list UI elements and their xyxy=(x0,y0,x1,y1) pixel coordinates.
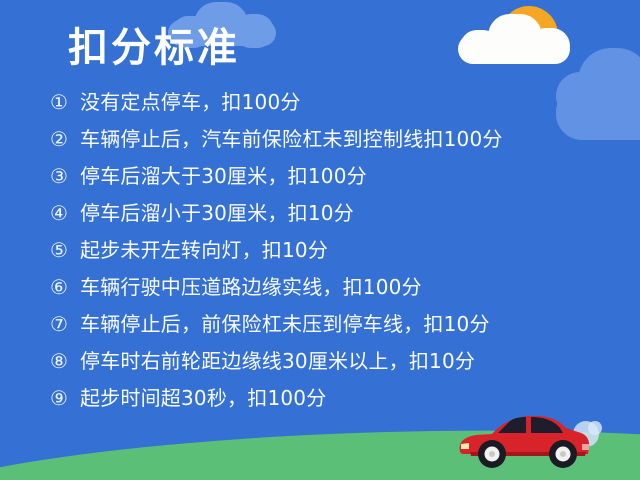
cloud-white-icon xyxy=(458,14,570,64)
list-item-number: ② xyxy=(50,127,80,151)
list-item-number: ⑧ xyxy=(50,349,80,373)
list-item-label: 起步时间超30秒，扣100分 xyxy=(80,382,326,411)
list-item-label: 车辆行驶中压道路边缘实线，扣100分 xyxy=(80,271,422,300)
page-title: 扣分标准 xyxy=(68,28,240,68)
list-item-number: ⑨ xyxy=(50,386,80,410)
rules-list: ① 没有定点停车，扣100分 ② 车辆停止后，汽车前保险杠未到控制线扣100分 … xyxy=(50,86,610,419)
list-item-number: ⑦ xyxy=(50,312,80,336)
list-item-number: ③ xyxy=(50,164,80,188)
list-item-label: 停车时右前轮距边缘线30厘米以上，扣10分 xyxy=(80,345,475,374)
list-item-label: 停车后溜大于30厘米，扣100分 xyxy=(80,160,367,189)
list-item-label: 停车后溜小于30厘米，扣10分 xyxy=(80,197,354,226)
list-item-label: 车辆停止后，汽车前保险杠未到控制线扣100分 xyxy=(80,123,503,152)
poster-canvas: 扣分标准 ① 没有定点停车，扣100分 ② 车辆停止后，汽车前保险杠未到控制线扣… xyxy=(0,0,640,480)
list-item: ⑨ 起步时间超30秒，扣100分 xyxy=(50,382,610,419)
list-item: ⑤ 起步未开左转向灯，扣10分 xyxy=(50,234,610,271)
list-item: ④ 停车后溜小于30厘米，扣10分 xyxy=(50,197,610,234)
list-item-label: 车辆停止后，前保险杠未压到停车线，扣10分 xyxy=(80,308,490,337)
list-item: ③ 停车后溜大于30厘米，扣100分 xyxy=(50,160,610,197)
list-item: ⑥ 车辆行驶中压道路边缘实线，扣100分 xyxy=(50,271,610,308)
list-item-label: 起步未开左转向灯，扣10分 xyxy=(80,234,328,263)
list-item-label: 没有定点停车，扣100分 xyxy=(80,86,301,115)
list-item-number: ④ xyxy=(50,201,80,225)
list-item: ⑧ 停车时右前轮距边缘线30厘米以上，扣10分 xyxy=(50,345,610,382)
list-item-number: ① xyxy=(50,90,80,114)
list-item-number: ⑤ xyxy=(50,238,80,262)
list-item-number: ⑥ xyxy=(50,275,80,299)
list-item: ① 没有定点停车，扣100分 xyxy=(50,86,610,123)
list-item: ② 车辆停止后，汽车前保险杠未到控制线扣100分 xyxy=(50,123,610,160)
list-item: ⑦ 车辆停止后，前保险杠未压到停车线，扣10分 xyxy=(50,308,610,345)
